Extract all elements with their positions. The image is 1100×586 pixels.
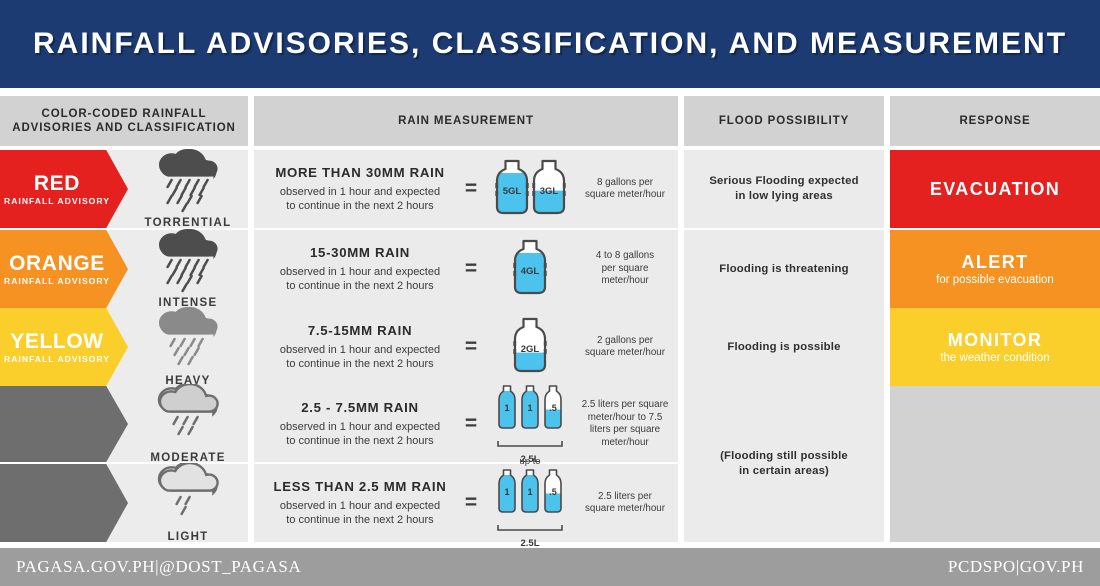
rain-cloud-light-icon — [153, 463, 223, 529]
response-merged-empty-cell — [890, 386, 1100, 542]
svg-text:5GL: 5GL — [502, 186, 521, 197]
water-bottle-icon: 1 — [496, 384, 518, 435]
measure-bracket-icon — [497, 519, 563, 537]
svg-text:1: 1 — [504, 403, 509, 413]
classification-label: LIGHT — [168, 531, 209, 543]
equals-sign: = — [454, 418, 488, 430]
advisory-subtitle: RAINFALL ADVISORY — [4, 276, 110, 286]
advisory-cell: MODERATE — [0, 386, 248, 462]
svg-text:1: 1 — [504, 487, 509, 497]
rain-measurement-text: 7.5-15mm RAINobserved in 1 hour and expe… — [254, 323, 454, 371]
rain-cloud-torrential-icon — [153, 149, 223, 215]
rain-cloud-moderate-icon — [153, 384, 223, 450]
water-bottle-icon: 1 — [519, 468, 541, 519]
rain-measurement-cell: MORE THAN 30mm RAINobserved in 1 hour an… — [254, 150, 678, 228]
column-header-advisory-line1: COLOR-CODED RAINFALL — [12, 107, 236, 121]
flood-merged-line1: (Flooding still possible — [720, 449, 848, 464]
svg-text:4GL: 4GL — [521, 266, 540, 277]
advisory-arrow-badge: REDRAINFALL ADVISORY — [0, 150, 128, 228]
rain-amount: LESS THAN 2.5 mm RAIN — [266, 479, 454, 494]
rain-measurement-text: MORE THAN 30mm RAINobserved in 1 hour an… — [254, 165, 454, 213]
footer-left-text: PAGASA.GOV.PH|@DOST_PAGASA — [16, 557, 301, 577]
column-header-flood-possibility: FLOOD POSSIBILITY — [684, 96, 884, 146]
water-bottle-icon: .5 — [542, 384, 564, 435]
advisory-row: REDRAINFALL ADVISORYTORRENTIALMORE THAN … — [0, 150, 1100, 228]
advisory-cell: YELLOWRAINFALL ADVISORYHEAVY — [0, 308, 248, 386]
volume-equivalent-note: 2.5 liters per squaremeter/hour to 7.5li… — [572, 399, 678, 449]
advisory-arrow-badge: YELLOWRAINFALL ADVISORY — [0, 308, 128, 386]
water-jug-icon: 2GL — [512, 317, 548, 378]
classification-cell: LIGHT — [128, 464, 248, 542]
response-cell: EVACUATION — [890, 150, 1100, 228]
advisory-arrow-badge: ORANGERAINFALL ADVISORY — [0, 230, 128, 308]
rain-note: observed in 1 hour and expectedto contin… — [266, 420, 454, 448]
rain-amount: 15-30mm RAIN — [266, 245, 454, 260]
advisory-name: ORANGE — [9, 253, 105, 275]
rain-measurement-cell: 15-30mm RAINobserved in 1 hour and expec… — [254, 230, 678, 308]
rain-note: observed in 1 hour and expectedto contin… — [266, 265, 454, 293]
response-action: ALERT — [962, 252, 1029, 272]
rain-note: observed in 1 hour and expectedto contin… — [266, 499, 454, 527]
rain-measurement-cell: 2.5 - 7.5mm RAINobserved in 1 hour and e… — [254, 386, 678, 462]
rain-amount: 7.5-15mm RAIN — [266, 323, 454, 338]
response-cell: MONITORthe weather condition — [890, 308, 1100, 386]
flood-text-line1: Serious Flooding expected — [709, 174, 858, 189]
response-cell: ALERTfor possible evacuation — [890, 230, 1100, 308]
advisory-subtitle: RAINFALL ADVISORY — [4, 196, 110, 206]
response-detail: for possible evacuation — [936, 273, 1054, 287]
footer-bar: PAGASA.GOV.PH|@DOST_PAGASA PCDSPO|GOV.PH — [0, 548, 1100, 586]
vessel-illustration: 4GL — [488, 239, 572, 300]
svg-text:2GL: 2GL — [521, 344, 540, 355]
svg-text:1: 1 — [527, 487, 532, 497]
rain-amount: 2.5 - 7.5mm RAIN — [266, 400, 454, 415]
rainfall-advisory-infographic: RAINFALL ADVISORIES, CLASSIFICATION, AND… — [0, 0, 1100, 586]
flood-text-line2: in low lying areas — [709, 189, 858, 204]
advisory-arrow-badge — [0, 386, 128, 462]
rain-measurement-text: LESS THAN 2.5 mm RAINobserved in 1 hour … — [254, 479, 454, 527]
rain-measurement-text: 15-30mm RAINobserved in 1 hour and expec… — [254, 245, 454, 293]
advisory-cell: ORANGERAINFALL ADVISORYINTENSE — [0, 230, 248, 308]
vessel-illustration: 5GL3GL — [488, 159, 572, 220]
advisory-subtitle: RAINFALL ADVISORY — [4, 354, 110, 364]
equals-sign: = — [454, 341, 488, 353]
water-bottle-icon: 1 — [519, 384, 541, 435]
svg-text:.5: .5 — [549, 487, 557, 497]
vessel-illustration: 2GL — [488, 317, 572, 378]
advisory-row: YELLOWRAINFALL ADVISORYHEAVY7.5-15mm RAI… — [0, 308, 1100, 386]
volume-equivalent-note: 2 gallons persquare meter/hour — [572, 335, 678, 360]
column-header-advisory-line2: ADVISORIES AND CLASSIFICATION — [12, 121, 236, 135]
page-title: RAINFALL ADVISORIES, CLASSIFICATION, AND… — [0, 27, 1100, 61]
flood-possibility-cell: Flooding is possible — [684, 308, 884, 386]
flood-possibility-cell: Serious Flooding expectedin low lying ar… — [684, 150, 884, 228]
volume-equivalent-note: 4 to 8 gallonsper squaremeter/hour — [572, 250, 678, 288]
rain-cloud-intense-icon — [153, 229, 223, 295]
water-jug-icon: 4GL — [512, 239, 548, 300]
flood-possibility-cell: Flooding is threatening — [684, 230, 884, 308]
classification-label: TORRENTIAL — [145, 217, 232, 229]
column-header-advisory: COLOR-CODED RAINFALL ADVISORIES AND CLAS… — [0, 96, 248, 146]
vessel-illustration: 11.52.5L — [488, 384, 572, 465]
water-bottle-icon: .5 — [542, 468, 564, 519]
advisory-row: ORANGERAINFALL ADVISORYINTENSE15-30mm RA… — [0, 230, 1100, 308]
vessel-illustration: up to11.52.5L — [488, 457, 572, 549]
volume-equivalent-note: 8 gallons persquare meter/hour — [572, 177, 678, 202]
rain-cloud-heavy-icon — [153, 307, 223, 373]
svg-text:3GL: 3GL — [539, 186, 558, 197]
classification-cell: TORRENTIAL — [128, 150, 248, 228]
rain-note: observed in 1 hour and expectedto contin… — [266, 185, 454, 213]
equals-sign: = — [454, 263, 488, 275]
rain-note: observed in 1 hour and expectedto contin… — [266, 343, 454, 371]
equals-sign: = — [454, 497, 488, 509]
rain-measurement-cell: LESS THAN 2.5 mm RAINobserved in 1 hour … — [254, 464, 678, 542]
column-header-response: RESPONSE — [890, 96, 1100, 146]
advisory-name: RED — [34, 173, 80, 195]
advisory-arrow-badge — [0, 464, 128, 542]
rain-measurement-text: 2.5 - 7.5mm RAINobserved in 1 hour and e… — [254, 400, 454, 448]
measure-bracket-icon — [497, 435, 563, 453]
flood-possibility-merged-cell: (Flooding still possible in certain area… — [684, 386, 884, 542]
water-jug-icon: 5GL — [494, 159, 530, 220]
water-bottle-icon: 1 — [496, 468, 518, 519]
footer-right-text: PCDSPO|GOV.PH — [948, 557, 1084, 577]
response-detail: the weather condition — [940, 351, 1049, 365]
svg-text:.5: .5 — [549, 403, 557, 413]
equals-sign: = — [454, 183, 488, 195]
flood-text-line1: Flooding is possible — [727, 340, 840, 355]
header-banner: RAINFALL ADVISORIES, CLASSIFICATION, AND… — [0, 0, 1100, 88]
water-jug-icon: 3GL — [531, 159, 567, 220]
rain-amount: MORE THAN 30mm RAIN — [266, 165, 454, 180]
classification-cell: INTENSE — [128, 230, 248, 308]
advisory-cell: LIGHT — [0, 464, 248, 542]
up-to-label: up to — [519, 457, 540, 467]
rain-measurement-cell: 7.5-15mm RAINobserved in 1 hour and expe… — [254, 308, 678, 386]
classification-cell: HEAVY — [128, 308, 248, 386]
response-action: MONITOR — [948, 330, 1042, 350]
flood-merged-line2: in certain areas) — [720, 464, 848, 479]
response-action: EVACUATION — [930, 179, 1060, 199]
column-header-rain-measurement: RAIN MEASUREMENT — [254, 96, 678, 146]
svg-text:1: 1 — [527, 403, 532, 413]
classification-cell: MODERATE — [128, 386, 248, 462]
volume-equivalent-note: 2.5 liters persquare meter/hour — [572, 491, 678, 516]
flood-text-line1: Flooding is threatening — [719, 262, 849, 277]
advisory-cell: REDRAINFALL ADVISORYTORRENTIAL — [0, 150, 248, 228]
advisory-name: YELLOW — [10, 331, 103, 353]
